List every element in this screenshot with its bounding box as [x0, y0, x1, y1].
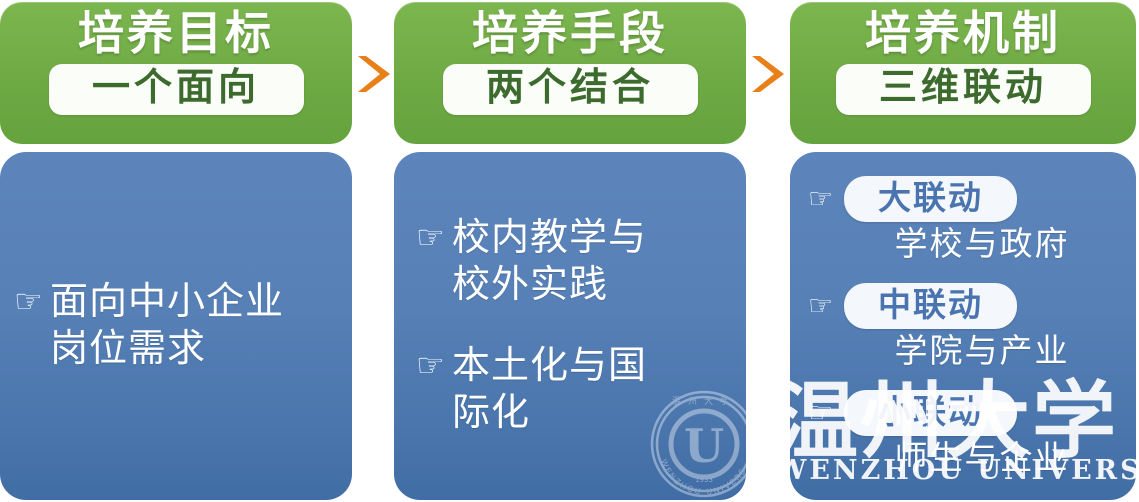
bullet-text: 面向中小企业岗位需求 [50, 279, 284, 373]
linkage-item-medium: ☞ 中联动 学院与产业 [808, 283, 1126, 372]
linkage-header: ☞ 小联动 [808, 390, 1126, 436]
column-goal: 培养目标 一个面向 ☞ 面向中小企业岗位需求 [0, 0, 352, 502]
header-pill-text-method: 两个结合 [463, 67, 678, 109]
linkage-detail: 学院与产业 [808, 330, 1126, 372]
header-card-method: 培养手段 两个结合 [394, 2, 746, 144]
bullet-item: ☞ 本土化与国际化 [416, 343, 734, 437]
linkage-item-large: ☞ 大联动 学校与政府 [808, 176, 1126, 265]
pointing-hand-icon: ☞ [808, 286, 844, 326]
header-pill-text-goal: 一个面向 [69, 67, 284, 109]
linkage-pill: 大联动 [844, 176, 1017, 222]
header-pill-mechanism: 三维联动 [836, 64, 1091, 115]
bullet-text: 本土化与国际化 [452, 343, 647, 437]
diagram-canvas: 培养目标 一个面向 ☞ 面向中小企业岗位需求 培养手段 两个结合 [0, 0, 1139, 502]
body-content-method: ☞ 校内教学与校外实践 ☞ 本土化与国际化 [394, 152, 746, 500]
linkage-detail: 学校与政府 [808, 223, 1126, 265]
linkage-detail: 师生与企业 [808, 437, 1126, 479]
header-card-mechanism: 培养机制 三维联动 [790, 2, 1136, 144]
header-pill-goal: 一个面向 [49, 64, 304, 115]
header-card-goal: 培养目标 一个面向 [0, 2, 352, 144]
column-method: 培养手段 两个结合 ☞ 校内教学与校外实践 ☞ 本土化与国际化 [394, 0, 746, 502]
header-pill-method: 两个结合 [443, 64, 698, 115]
header-pill-text-mechanism: 三维联动 [856, 67, 1071, 109]
bullet-item: ☞ 校内教学与校外实践 [416, 215, 734, 309]
pointing-hand-icon: ☞ [808, 393, 844, 433]
linkage-label: 中联动 [878, 286, 983, 323]
body-card-goal: ☞ 面向中小企业岗位需求 [0, 152, 352, 500]
linkage-label: 大联动 [878, 179, 983, 216]
pointing-hand-icon: ☞ [416, 343, 450, 387]
header-title-method: 培养手段 [472, 9, 668, 57]
body-card-method: ☞ 校内教学与校外实践 ☞ 本土化与国际化 [394, 152, 746, 500]
bullet-text: 校内教学与校外实践 [452, 215, 647, 309]
body-card-mechanism: ☞ 大联动 学校与政府 ☞ 中联动 学院与产业 [790, 152, 1136, 500]
linkage-header: ☞ 中联动 [808, 283, 1126, 329]
linkage-pill: 中联动 [844, 283, 1017, 329]
pointing-hand-icon: ☞ [416, 215, 450, 259]
pointing-hand-icon: ☞ [14, 279, 48, 323]
linkage-pill: 小联动 [844, 390, 1017, 436]
header-title-mechanism: 培养机制 [865, 9, 1061, 57]
linkage-label: 小联动 [878, 393, 983, 430]
header-title-goal: 培养目标 [78, 9, 274, 57]
chevron-right-icon-2 [746, 52, 790, 96]
column-mechanism: 培养机制 三维联动 ☞ 大联动 学校与政府 ☞ [790, 0, 1136, 502]
linkage-header: ☞ 大联动 [808, 176, 1126, 222]
bullet-item: ☞ 面向中小企业岗位需求 [14, 279, 340, 373]
body-content-mechanism: ☞ 大联动 学校与政府 ☞ 中联动 学院与产业 [790, 152, 1136, 500]
body-content-goal: ☞ 面向中小企业岗位需求 [0, 152, 352, 500]
chevron-right-icon-1 [352, 52, 396, 96]
pointing-hand-icon: ☞ [808, 179, 844, 219]
linkage-item-small: ☞ 小联动 师生与企业 [808, 390, 1126, 479]
